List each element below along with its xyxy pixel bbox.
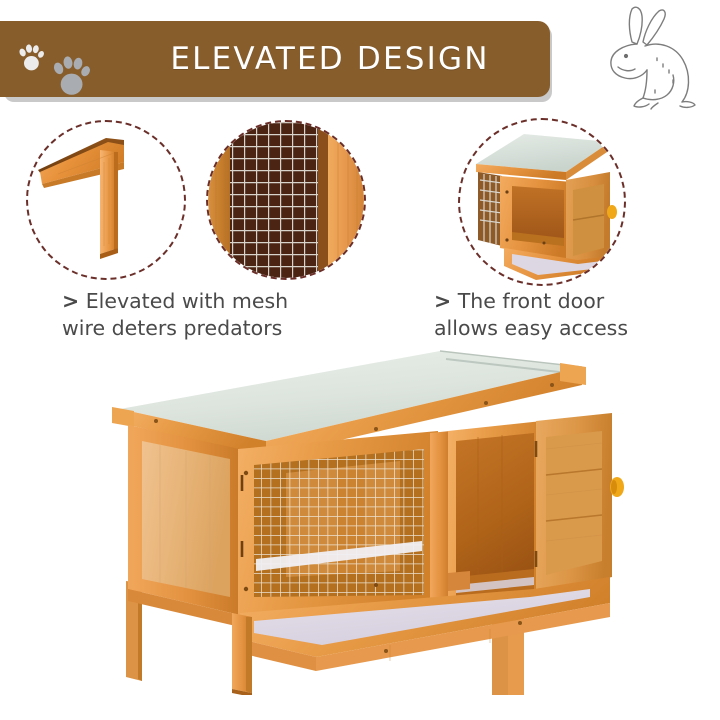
feature-caption-1: > Elevated with mesh wire deters predato…	[62, 288, 372, 342]
chevron-marker: >	[434, 289, 451, 313]
rabbit-line-art-icon	[585, 4, 705, 116]
elevated-rabbit-hutch-photo	[90, 345, 660, 695]
paw-print-icon	[18, 44, 44, 72]
feature-caption-1-text: Elevated with mesh wire deters predators	[62, 289, 288, 340]
open-door-photo	[458, 118, 626, 286]
wire-mesh-photo	[206, 120, 366, 280]
feature-caption-2-text: The front door allows easy access	[434, 289, 628, 340]
infographic-canvas: ELEVATED DESIGN	[0, 0, 720, 720]
paw-print-icon	[52, 56, 90, 97]
elevated-leg-photo	[26, 120, 186, 280]
feature-caption-2: > The front door allows easy access	[434, 288, 714, 342]
chevron-marker: >	[62, 289, 79, 313]
page-title: ELEVATED DESIGN	[120, 21, 540, 97]
